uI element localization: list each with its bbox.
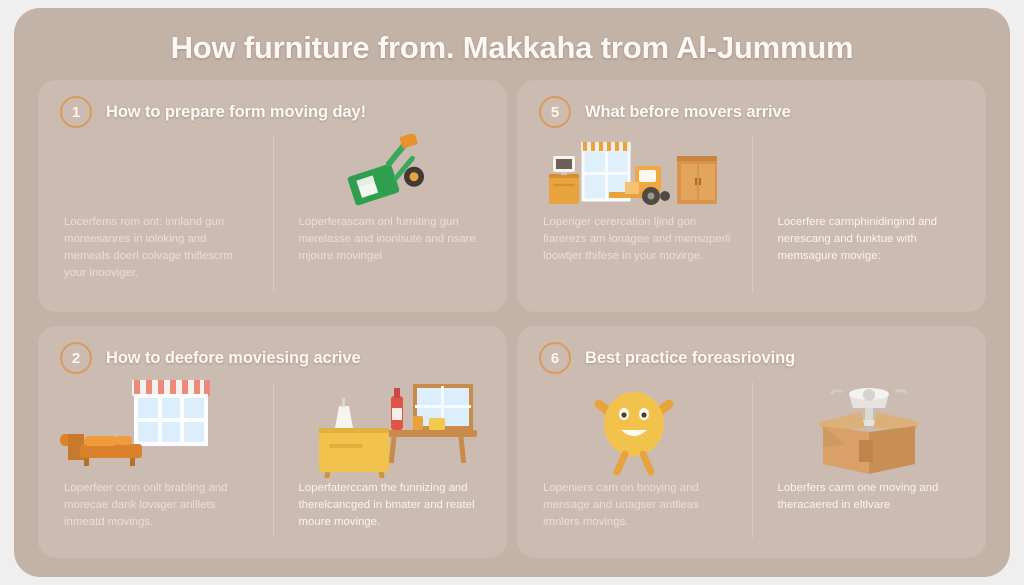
cards-grid: 1 How to prepare form moving day! Locerf… xyxy=(38,80,986,558)
card-5-title: What before movers arrive xyxy=(585,103,791,122)
happy-blob-character-icon xyxy=(537,370,732,480)
card-5-column-1: Loperiger cerercation ljind gon fiarerez… xyxy=(517,124,752,304)
card-1-column-2-text: Loperferascam onl furniting gun merelass… xyxy=(293,214,488,265)
card-6-title: Best practice foreasrioving xyxy=(585,349,795,368)
card-5-column-2-text: Locerfere carmphinidingind and nerescang… xyxy=(772,214,967,265)
cabinet-table-window-icon xyxy=(293,370,488,480)
card-2-column-2-text: Loperfaterccam the funnizing and therelc… xyxy=(293,480,488,531)
card-2-columns: Loperfeer ccnn onlt brabling and morecae… xyxy=(38,370,507,550)
moving-truck-furniture-icon xyxy=(537,124,732,214)
infographic-poster: How furniture from. Makkaha trom Al-Jumm… xyxy=(14,8,1010,577)
card-1-column-1: Locerfems rom ont: innland gun moreesanr… xyxy=(38,124,273,304)
card-1-title: How to prepare form moving day! xyxy=(106,103,366,122)
moving-dolly-icon xyxy=(58,124,253,214)
card-6-column-1: Lopeniers cam on bnoying and mensage and… xyxy=(517,370,752,550)
card-5-columns: Loperiger cerercation ljind gon fiarerez… xyxy=(517,124,986,304)
card-6-column-2: Loberfers carm one moving and theracaere… xyxy=(752,370,987,550)
card-6-columns: Lopeniers cam on bnoying and mensage and… xyxy=(517,370,986,550)
card-2[interactable]: 2 How to deefore moviesing acrive xyxy=(38,326,507,558)
card-6[interactable]: 6 Best practice foreasrioving xyxy=(517,326,986,558)
open-cardboard-box-icon xyxy=(772,370,967,480)
card-6-column-2-text: Loberfers carm one moving and theracaere… xyxy=(772,480,967,514)
card-2-title: How to deefore moviesing acrive xyxy=(106,349,361,368)
card-2-column-1: Loperfeer ccnn onlt brabling and morecae… xyxy=(38,370,273,550)
wardrobe-icon xyxy=(772,124,967,214)
window-awning-sofa-icon xyxy=(58,370,253,480)
card-1[interactable]: 1 How to prepare form moving day! Locerf… xyxy=(38,80,507,312)
card-1-column-1-text: Locerfems rom ont: innland gun moreesanr… xyxy=(58,214,253,282)
card-5-column-2: Locerfere carmphinidingind and nerescang… xyxy=(752,124,987,304)
card-2-column-1-text: Loperfeer ccnn onlt brabling and morecae… xyxy=(58,480,253,531)
card-1-column-2: Loperferascam onl furniting gun merelass… xyxy=(273,124,508,304)
green-hand-truck-icon xyxy=(293,124,488,214)
page-title: How furniture from. Makkaha trom Al-Jumm… xyxy=(14,30,1010,66)
card-5-column-1-text: Loperiger cerercation ljind gon fiarerez… xyxy=(537,214,732,265)
card-2-column-2: Loperfaterccam the funnizing and therelc… xyxy=(273,370,508,550)
card-5[interactable]: 5 What before movers arrive xyxy=(517,80,986,312)
card-6-column-1-text: Lopeniers cam on bnoying and mensage and… xyxy=(537,480,732,531)
card-1-columns: Locerfems rom ont: innland gun moreesanr… xyxy=(38,124,507,304)
